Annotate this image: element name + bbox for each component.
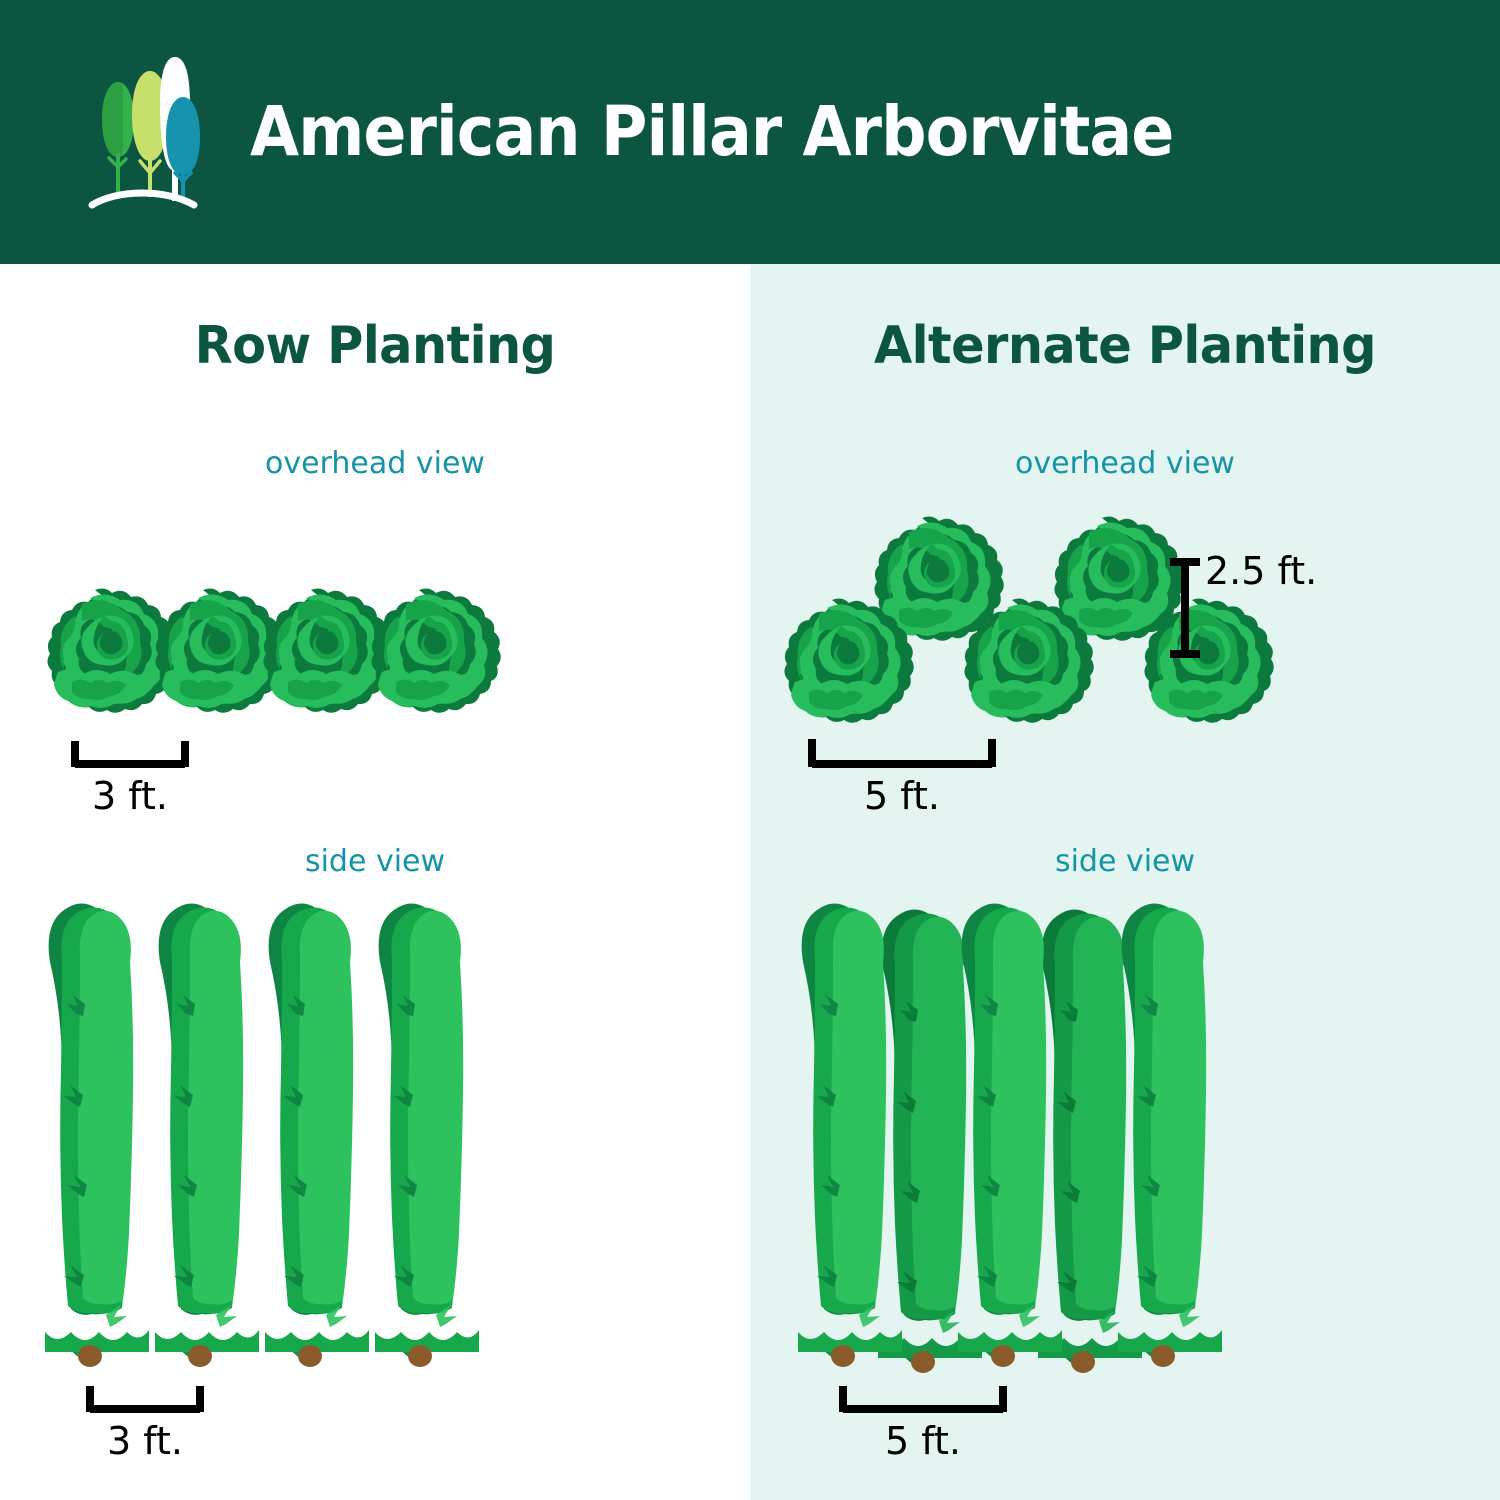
measure-label-side-left: 3 ft.	[107, 1419, 183, 1463]
overhead-view-label-left: overhead view	[0, 446, 750, 481]
overhead-art-alternate-planting: 2.5 ft. 5 ft.	[750, 484, 1500, 834]
panel-title-alternate-planting: Alternate Planting	[769, 316, 1482, 376]
overhead-view-label-right: overhead view	[750, 446, 1500, 481]
page-title: American Pillar Arborvitae	[250, 92, 1173, 172]
measure-bracket-side-left: 3 ft.	[90, 1386, 200, 1463]
panels-container: Row Planting overhead view	[0, 264, 1500, 1500]
side-view-label-right: side view	[750, 844, 1500, 879]
panel-alternate-planting: Alternate Planting overhead view	[750, 264, 1500, 1500]
canopy-group-row-planting	[47, 589, 500, 713]
measure-label-side-right: 5 ft.	[885, 1419, 961, 1463]
pillar-tree-2	[155, 903, 259, 1367]
pillar-group-alternate-planting	[798, 903, 1222, 1373]
measure-bracket-overhead-right: 5 ft.	[812, 739, 992, 818]
panel-row-planting: Row Planting overhead view	[0, 264, 750, 1500]
side-view-label-left: side view	[0, 844, 750, 879]
pillar-tree-3	[265, 903, 369, 1367]
measure-label-overhead-left: 3 ft.	[92, 774, 168, 818]
pillar-tree-alt-5	[1118, 903, 1222, 1367]
pillar-group-row-planting	[45, 903, 479, 1367]
canopy-overhead-4	[371, 589, 500, 713]
measure-bracket-overhead-left: 3 ft.	[75, 741, 185, 818]
side-art-alternate-planting: 5 ft.	[750, 894, 1500, 1464]
pillar-tree-alt-2	[878, 909, 982, 1373]
four-trees-logo-icon	[78, 49, 206, 209]
header-bar: American Pillar Arborvitae	[0, 0, 1500, 264]
measure-label-offset-right: 2.5 ft.	[1205, 549, 1317, 593]
canopy-group-alternate-front	[784, 599, 1273, 723]
infographic-page: American Pillar Arborvitae Row Planting …	[0, 0, 1500, 1500]
pillar-tree-1	[45, 903, 149, 1367]
overhead-art-row-planting: 3 ft.	[0, 564, 750, 834]
measure-label-overhead-right: 5 ft.	[864, 774, 940, 818]
panel-title-row-planting: Row Planting	[19, 316, 732, 376]
pillar-tree-4	[375, 903, 479, 1367]
side-art-row-planting: 3 ft.	[0, 894, 750, 1464]
measure-bracket-side-right: 5 ft.	[843, 1386, 1003, 1463]
pillar-tree-alt-4	[1038, 909, 1142, 1373]
